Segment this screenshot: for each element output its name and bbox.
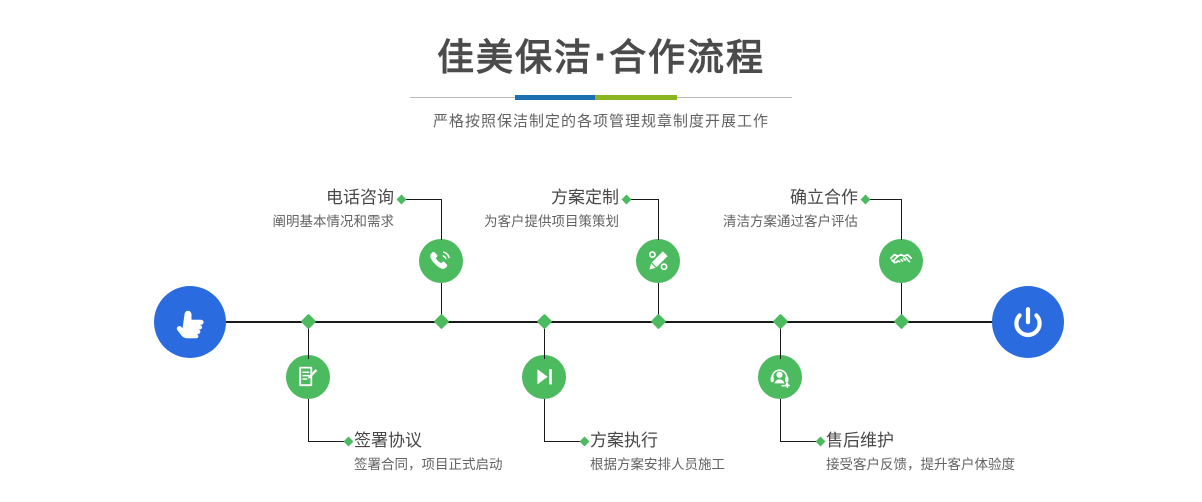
step-label-connector-5-vertical (780, 399, 781, 442)
step-label-bullet-1 (397, 195, 407, 205)
divider-segment-blue (515, 95, 595, 100)
step-label-3: 方案定制 为客户提供项目策策划 (455, 187, 619, 232)
step-node-5[interactable] (758, 355, 802, 399)
step-label-1: 电话咨询 阐明基本情况和需求 (248, 187, 394, 232)
pointing-hand-icon (168, 300, 212, 344)
play-execute-icon (531, 364, 557, 390)
customer-support-icon (767, 364, 793, 390)
step-label-connector-4-vertical (544, 399, 545, 442)
step-node-6[interactable] (879, 239, 923, 283)
flow-diagram-canvas: 佳美保洁·合作流程 严格按照保洁制定的各项管理规章制度开展工作 (0, 0, 1202, 502)
step-label-connector-2-horizontal (308, 441, 348, 442)
title-divider (410, 95, 792, 100)
step-title-2: 签署协议 (354, 430, 503, 452)
divider-segment-green (595, 95, 677, 100)
step-label-bullet-5 (816, 437, 826, 447)
step-node-1[interactable] (419, 239, 463, 283)
step-title-1: 电话咨询 (248, 187, 394, 209)
step-axis-diamond-1 (434, 314, 450, 330)
step-label-connector-3-horizontal (628, 199, 659, 200)
handshake-icon (888, 248, 914, 274)
step-axis-diamond-4 (537, 314, 553, 330)
step-label-2: 签署协议 签署合同，项目正式启动 (354, 430, 503, 475)
timeline-start-marker (154, 286, 226, 358)
step-desc-2: 签署合同，项目正式启动 (354, 455, 503, 475)
step-label-bullet-2 (344, 437, 354, 447)
step-label-connector-4-horizontal (544, 441, 584, 442)
step-label-connector-2-vertical (308, 399, 309, 442)
step-label-connector-1-vertical (441, 199, 442, 240)
step-label-6: 确立合作 清洁方案通过客户评估 (690, 187, 858, 232)
step-label-bullet-6 (861, 195, 871, 205)
phone-call-icon (428, 248, 454, 274)
step-node-3[interactable] (636, 239, 680, 283)
step-desc-4: 根据方案安排人员施工 (590, 455, 725, 475)
header: 佳美保洁·合作流程 严格按照保洁制定的各项管理规章制度开展工作 (0, 0, 1202, 131)
step-axis-diamond-6 (894, 314, 910, 330)
step-title-3: 方案定制 (455, 187, 619, 209)
page-title: 佳美保洁·合作流程 (0, 0, 1202, 80)
step-label-4: 方案执行 根据方案安排人员施工 (590, 430, 725, 475)
sign-document-icon (295, 364, 321, 390)
step-axis-diamond-5 (773, 314, 789, 330)
step-axis-diamond-2 (301, 314, 317, 330)
step-label-bullet-3 (622, 195, 632, 205)
step-label-connector-5-horizontal (780, 441, 820, 442)
step-label-connector-6-vertical (901, 199, 902, 240)
step-desc-5: 接受客户反馈，提升客户体验度 (826, 455, 1015, 475)
timeline-end-marker (992, 286, 1064, 358)
step-label-5: 售后维护 接受客户反馈，提升客户体验度 (826, 430, 1015, 475)
step-axis-diamond-3 (651, 314, 667, 330)
power-icon (1006, 300, 1050, 344)
step-desc-1: 阐明基本情况和需求 (248, 212, 394, 232)
step-label-connector-1-horizontal (403, 199, 442, 200)
step-desc-6: 清洁方案通过客户评估 (690, 212, 858, 232)
step-label-connector-6-horizontal (867, 199, 902, 200)
pencil-ruler-icon (645, 248, 671, 274)
page-subtitle: 严格按照保洁制定的各项管理规章制度开展工作 (0, 100, 1202, 131)
step-title-5: 售后维护 (826, 430, 1015, 452)
step-title-4: 方案执行 (590, 430, 725, 452)
step-label-connector-3-vertical (658, 199, 659, 240)
step-title-6: 确立合作 (690, 187, 858, 209)
step-node-4[interactable] (522, 355, 566, 399)
step-node-2[interactable] (286, 355, 330, 399)
step-label-bullet-4 (580, 437, 590, 447)
step-desc-3: 为客户提供项目策策划 (455, 212, 619, 232)
